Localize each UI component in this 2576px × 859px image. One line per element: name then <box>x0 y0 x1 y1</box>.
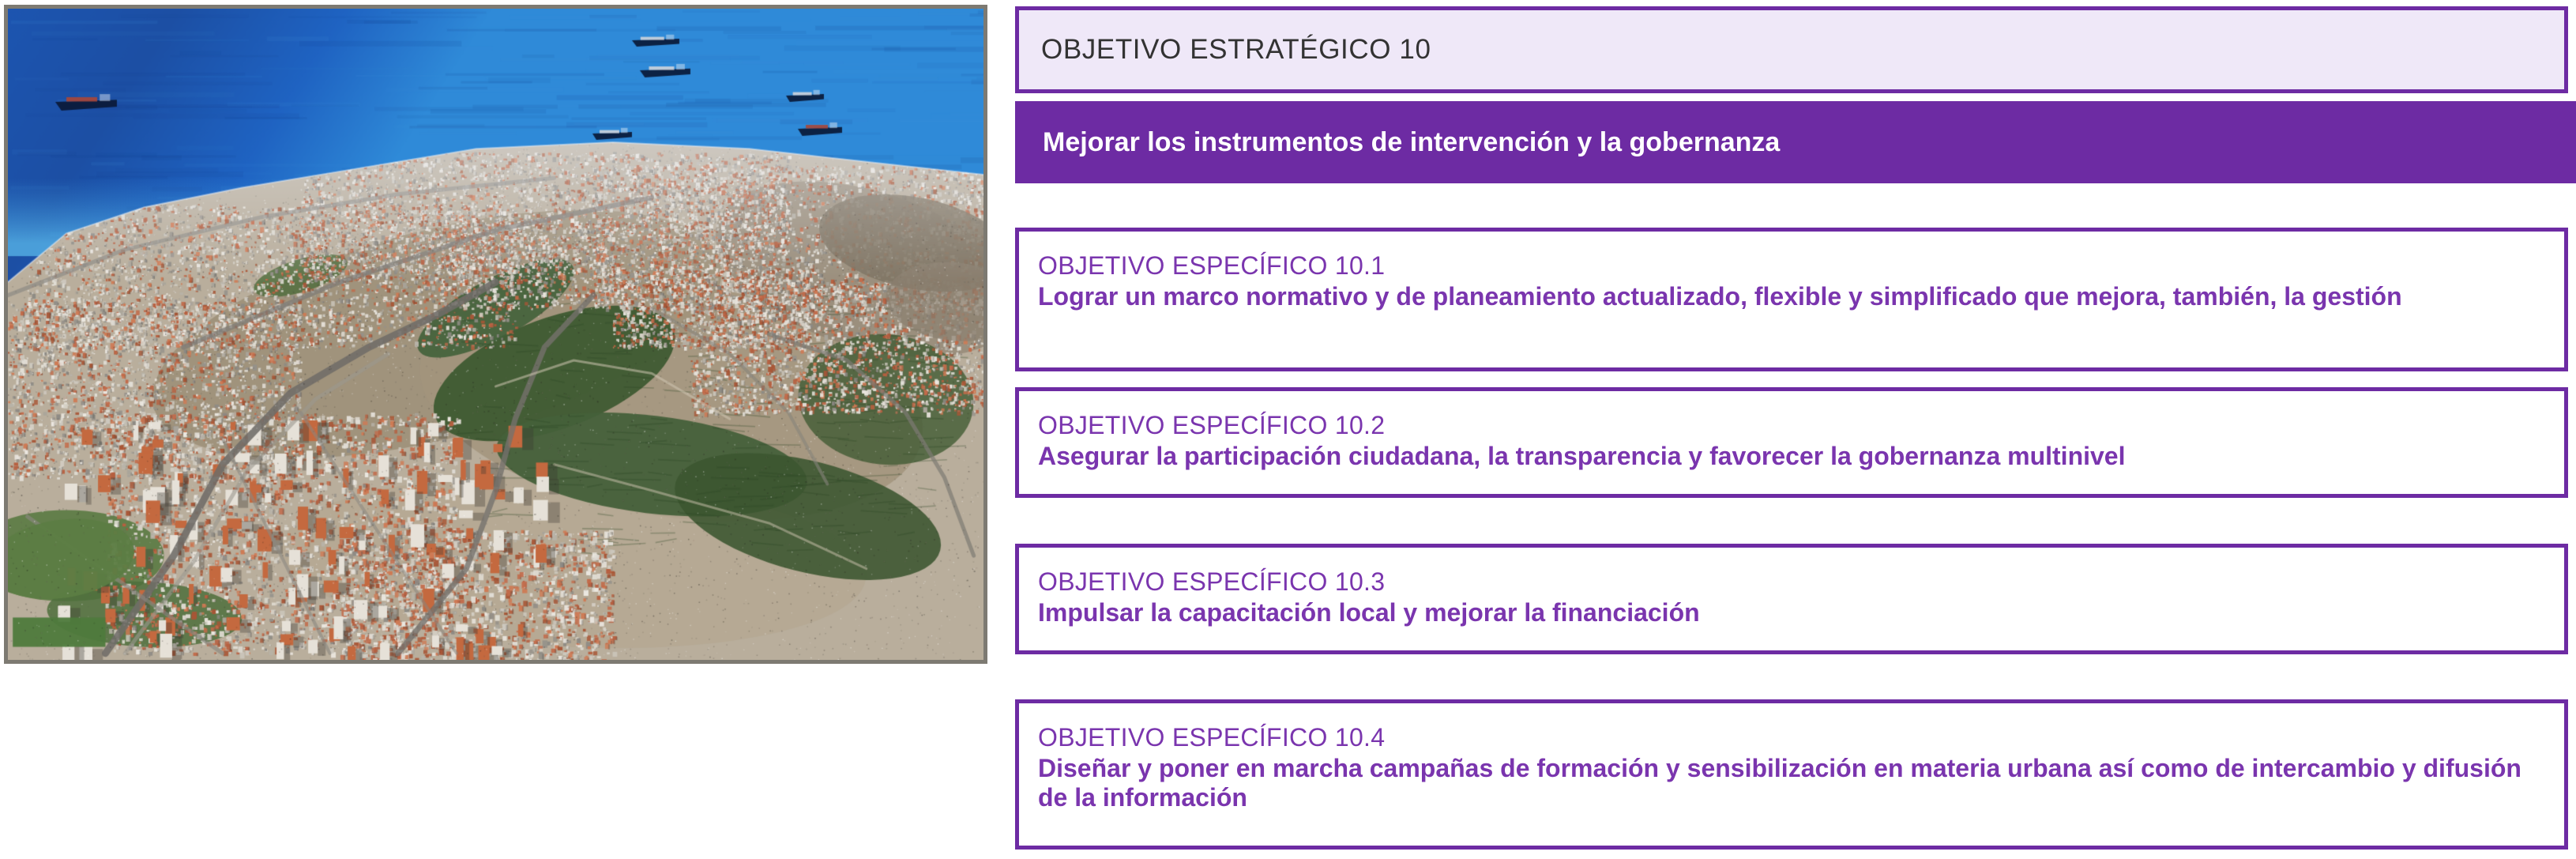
specific-objective-code: OBJETIVO ESPECÍFICO 10.2 <box>1038 412 2545 439</box>
aerial-coastal-city-photo <box>8 9 983 660</box>
specific-objective-code: OBJETIVO ESPECÍFICO 10.4 <box>1038 724 2545 752</box>
specific-objective-card-10-1: OBJETIVO ESPECÍFICO 10.1 Lograr un marco… <box>1015 228 2568 371</box>
specific-objective-description: Diseñar y poner en marcha campañas de fo… <box>1038 754 2545 814</box>
specific-objective-card-10-3: OBJETIVO ESPECÍFICO 10.3 Impulsar la cap… <box>1015 544 2568 654</box>
strategic-objective-banner: Mejorar los instrumentos de intervención… <box>1015 101 2576 183</box>
specific-objective-description: Impulsar la capacitación local y mejorar… <box>1038 598 2545 628</box>
specific-objective-code: OBJETIVO ESPECÍFICO 10.3 <box>1038 568 2545 596</box>
strategic-objective-header: OBJETIVO ESTRATÉGICO 10 <box>1015 6 2568 93</box>
specific-objective-card-10-2: OBJETIVO ESPECÍFICO 10.2 Asegurar la par… <box>1015 387 2568 498</box>
specific-objective-description: Lograr un marco normativo y de planeamie… <box>1038 282 2545 312</box>
specific-objective-card-10-4: OBJETIVO ESPECÍFICO 10.4 Diseñar y poner… <box>1015 699 2568 850</box>
specific-objective-code: OBJETIVO ESPECÍFICO 10.1 <box>1038 252 2545 280</box>
specific-objective-description: Asegurar la participación ciudadana, la … <box>1038 442 2545 472</box>
aerial-photo-panel <box>4 5 987 664</box>
strategic-objective-label: OBJETIVO ESTRATÉGICO 10 <box>1041 34 1431 66</box>
objectives-column: OBJETIVO ESTRATÉGICO 10 Mejorar los inst… <box>1015 0 2576 859</box>
strategic-objective-banner-label: Mejorar los instrumentos de intervención… <box>1043 127 1780 158</box>
